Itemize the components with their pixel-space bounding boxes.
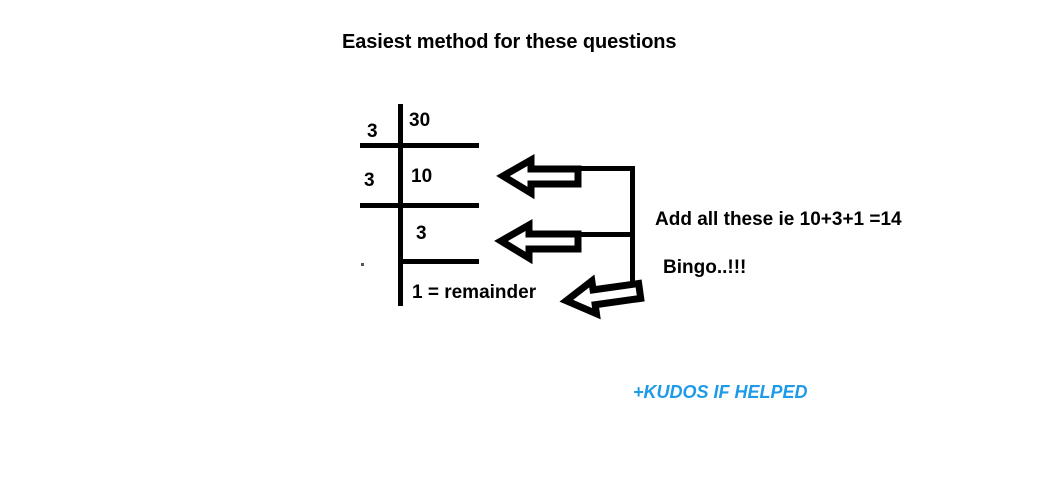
divisor-first: 3	[367, 122, 378, 141]
bracket-stub-middle	[575, 232, 633, 237]
stray-dot-artifact	[361, 263, 364, 266]
dividend-second: 10	[411, 167, 432, 186]
division-line-3	[400, 259, 479, 264]
arrow-left-block-icon-middle	[501, 225, 578, 258]
remainder-label: 1 = remainder	[412, 283, 536, 302]
divisor-second: 3	[364, 171, 375, 190]
arrow-left-block-icon-top	[503, 160, 578, 193]
diagram-strokes	[0, 0, 1060, 486]
bingo-annotation: Bingo..!!!	[663, 258, 746, 277]
division-line-2	[360, 203, 479, 208]
bracket-stub-top	[575, 166, 633, 171]
drawing-canvas: Easiest method for these questions 3 3 3…	[0, 0, 1060, 486]
add-all-annotation: Add all these ie 10+3+1 =14	[655, 210, 902, 229]
dividend-third: 3	[416, 224, 427, 243]
dividend-first: 30	[409, 111, 430, 130]
kudos-text: +KUDOS IF HELPED	[633, 383, 808, 401]
page-title: Easiest method for these questions	[342, 32, 676, 52]
division-line-1	[360, 143, 479, 148]
